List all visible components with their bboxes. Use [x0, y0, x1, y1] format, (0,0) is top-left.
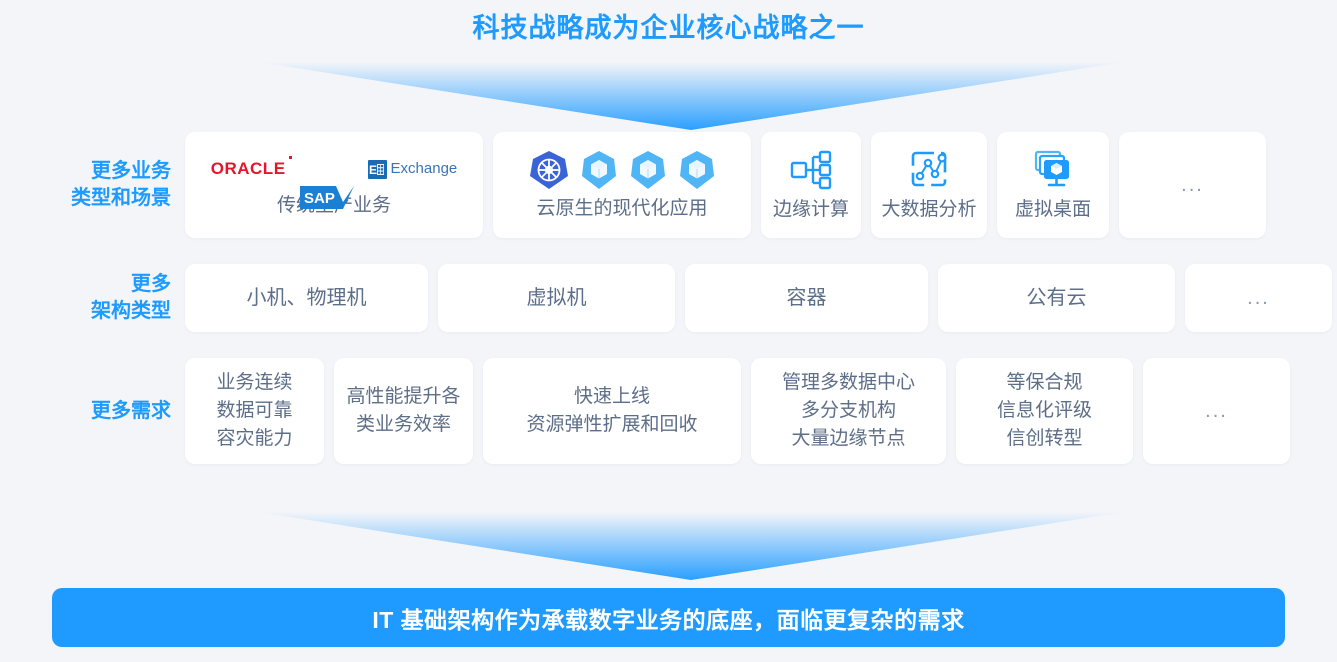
exchange-label: Exchange — [391, 155, 458, 183]
row-cards-business-types: ORACLE SAP E — [185, 132, 1337, 238]
exchange-glyph-icon: E — [369, 162, 385, 177]
card-fast-deployment[interactable]: 快速上线 资源弹性扩展和回收 — [483, 358, 741, 464]
card-more-architecture-types[interactable]: ... — [1185, 264, 1332, 332]
card-traditional-production[interactable]: ORACLE SAP E — [185, 132, 483, 238]
card-label: 管理多数据中心 多分支机构 大量边缘节点 — [782, 369, 915, 453]
card-label: 公有云 — [1027, 284, 1087, 312]
ellipsis-label: ... — [1205, 406, 1228, 416]
container-cube-icon — [579, 149, 619, 191]
card-label: 容器 — [787, 284, 827, 312]
vendor-logo-row: ORACLE SAP E — [211, 150, 458, 188]
card-label: 快速上线 资源弹性扩展和回收 — [526, 383, 697, 439]
container-cube-icon — [628, 149, 668, 191]
card-label: 虚拟机 — [527, 284, 587, 312]
card-label: 大数据分析 — [881, 196, 976, 224]
ellipsis-label: ... — [1247, 293, 1270, 303]
chevron-down-arrow-top — [258, 62, 1124, 130]
analytics-icon-wrap — [907, 146, 951, 194]
matrix-row-architecture-types: 更多 架构类型 小机、物理机 虚拟机 容器 公有云 ... — [0, 264, 1337, 332]
card-physical-machine[interactable]: 小机、物理机 — [185, 264, 428, 332]
card-label: 等保合规 信息化评级 信创转型 — [997, 369, 1092, 453]
kubernetes-icon — [528, 149, 570, 191]
container-cube-icon — [677, 149, 717, 191]
chevron-down-icon — [258, 512, 1124, 580]
edge-node-tree-icon — [789, 149, 833, 191]
card-public-cloud[interactable]: 公有云 — [938, 264, 1175, 332]
card-edge-computing[interactable]: 边缘计算 — [761, 132, 861, 238]
data-analytics-chart-icon — [907, 149, 951, 191]
svg-text:E: E — [369, 163, 377, 177]
card-label: 高性能提升各 类业务效率 — [346, 383, 460, 439]
card-label: 云原生的现代化应用 — [536, 195, 707, 223]
exchange-mark-icon: E — [368, 160, 387, 179]
card-more-requirements[interactable]: ... — [1143, 358, 1290, 464]
page-title: 科技战略成为企业核心战略之一 — [0, 10, 1337, 46]
oracle-logo: ORACLE — [211, 155, 286, 183]
card-label: 边缘计算 — [773, 196, 849, 224]
sap-logo-icon: SAP — [300, 186, 354, 209]
row-cards-requirements: 业务连续 数据可靠 容灾能力 高性能提升各 类业务效率 快速上线 资源弹性扩展和… — [185, 358, 1337, 464]
card-label: 虚拟桌面 — [1015, 196, 1091, 224]
virtual-desktop-icon — [1031, 149, 1075, 191]
card-label: 小机、物理机 — [247, 284, 367, 312]
conclusion-banner: IT 基础架构作为承载数字业务的底座，面临更复杂的需求 — [52, 588, 1285, 647]
card-container[interactable]: 容器 — [685, 264, 928, 332]
row-cards-architecture-types: 小机、物理机 虚拟机 容器 公有云 ... — [185, 264, 1337, 332]
card-compliance[interactable]: 等保合规 信息化评级 信创转型 — [956, 358, 1133, 464]
card-virtual-desktop[interactable]: 虚拟桌面 — [997, 132, 1109, 238]
chevron-down-arrow-bottom — [258, 512, 1124, 580]
row-label-business-types: 更多业务 类型和场景 — [0, 132, 185, 238]
row-label-requirements: 更多需求 — [0, 358, 185, 464]
card-high-performance[interactable]: 高性能提升各 类业务效率 — [334, 358, 473, 464]
svg-text:SAP: SAP — [304, 190, 335, 207]
card-big-data-analytics[interactable]: 大数据分析 — [871, 132, 987, 238]
ellipsis-label: ... — [1181, 180, 1204, 190]
card-label: 业务连续 数据可靠 容灾能力 — [216, 369, 292, 453]
card-multi-datacenter[interactable]: 管理多数据中心 多分支机构 大量边缘节点 — [751, 358, 946, 464]
matrix-row-requirements: 更多需求 业务连续 数据可靠 容灾能力 高性能提升各 类业务效率 快速上线 资源… — [0, 358, 1337, 464]
matrix-row-business-types: 更多业务 类型和场景 ORACLE SAP — [0, 132, 1337, 238]
card-virtual-machine[interactable]: 虚拟机 — [438, 264, 675, 332]
cloud-native-icon-row — [528, 147, 717, 193]
sap-logo: SAP — [300, 158, 354, 181]
row-label-architecture-types: 更多 架构类型 — [0, 264, 185, 332]
exchange-logo: E Exchange — [368, 155, 458, 183]
virtual-desktop-icon-wrap — [1031, 146, 1075, 194]
card-more-business-types[interactable]: ... — [1119, 132, 1266, 238]
card-business-continuity[interactable]: 业务连续 数据可靠 容灾能力 — [185, 358, 324, 464]
chevron-down-icon — [258, 62, 1124, 130]
capability-matrix: 更多业务 类型和场景 ORACLE SAP — [0, 132, 1337, 482]
edge-icon-wrap — [789, 146, 833, 194]
card-cloud-native-apps[interactable]: 云原生的现代化应用 — [493, 132, 751, 238]
